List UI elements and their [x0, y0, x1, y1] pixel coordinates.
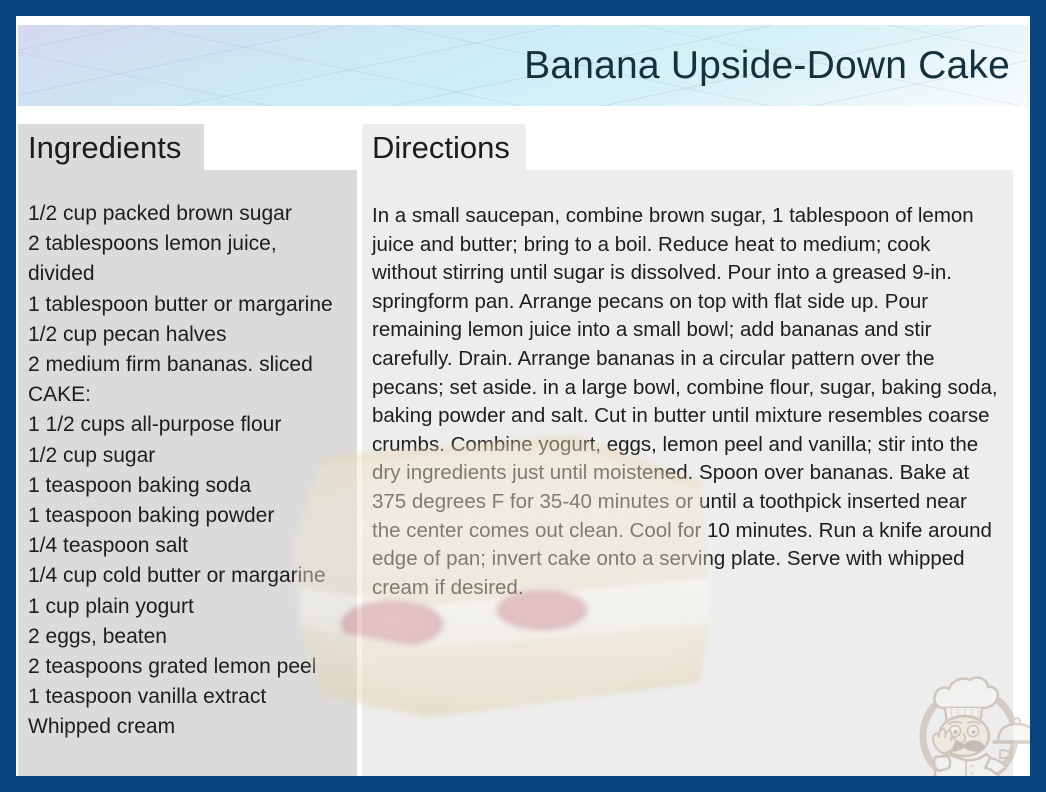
ingredients-heading: Ingredients — [28, 130, 181, 166]
directions-body-text: In a small saucepan, combine brown sugar… — [372, 202, 999, 602]
directions-heading: Directions — [372, 130, 510, 166]
title-banner: Banana Upside-Down Cake — [18, 25, 1028, 106]
directions-panel: Directions In a small saucepan, combine … — [362, 124, 1013, 784]
page-title: Banana Upside-Down Cake — [524, 44, 1010, 88]
ingredients-list: 1/2 cup packed brown sugar 2 tablespoons… — [28, 199, 347, 743]
ingredients-header-whitespace — [204, 124, 357, 170]
recipe-card: Banana Upside-Down Cake Ingredients 1/2 … — [0, 0, 1046, 792]
directions-header-whitespace — [526, 124, 1013, 170]
ingredients-panel: Ingredients 1/2 cup packed brown sugar 2… — [18, 124, 357, 784]
